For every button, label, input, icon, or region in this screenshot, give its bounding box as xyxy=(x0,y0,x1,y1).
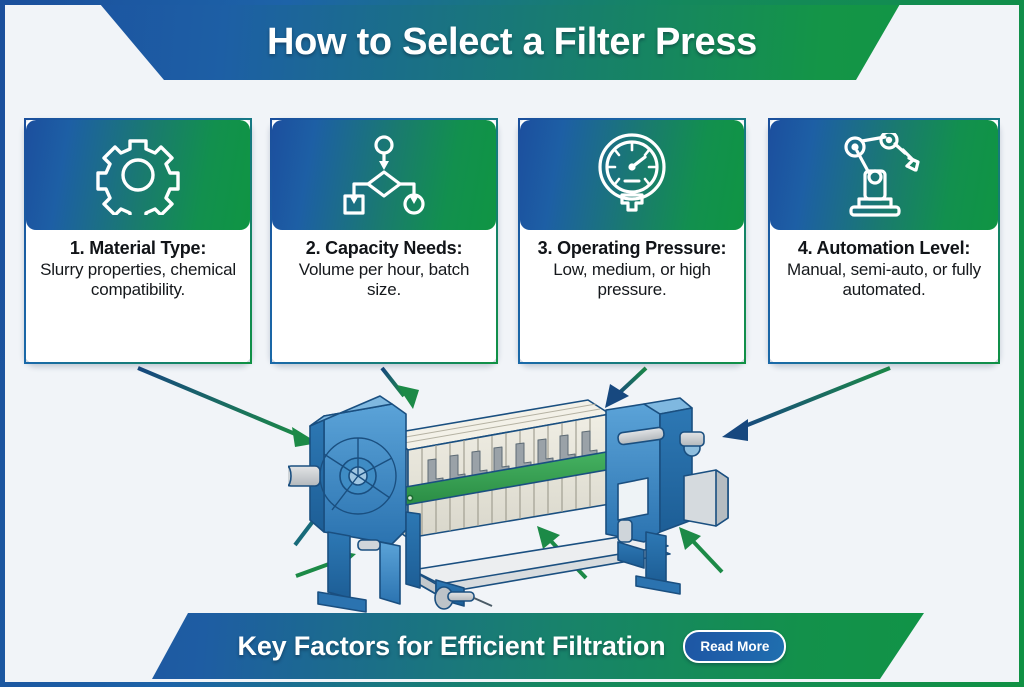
card-title: 1. Material Type: xyxy=(34,238,242,259)
card-body: 1. Material Type: Slurry properties, che… xyxy=(26,230,250,301)
footer-banner: Key Factors for Efficient Filtration Rea… xyxy=(0,613,1024,683)
machine-hydraulic-ram xyxy=(288,466,320,486)
card-body: 3. Operating Pressure: Low, medium, or h… xyxy=(520,230,744,301)
card-body: 4. Automation Level: Manual, semi-auto, … xyxy=(770,230,998,301)
card-operating-pressure[interactable]: 3. Operating Pressure: Low, medium, or h… xyxy=(518,118,746,364)
page-title: How to Select a Filter Press xyxy=(0,4,1024,80)
machine-head-block xyxy=(288,396,406,544)
pressure-gauge-icon xyxy=(592,131,672,219)
card-title: 3. Operating Pressure: xyxy=(528,238,736,259)
card-description: Low, medium, or high pressure. xyxy=(528,260,736,301)
read-more-button[interactable]: Read More xyxy=(683,630,786,663)
card-icon-panel xyxy=(26,120,250,230)
gear-icon xyxy=(95,135,181,215)
filter-press-machine xyxy=(288,392,740,620)
arrow-card4-to-machine xyxy=(722,368,890,441)
card-description: Manual, semi-auto, or fully automated. xyxy=(778,260,990,301)
machine-tail-frame xyxy=(606,398,692,594)
card-description: Volume per hour, batch size. xyxy=(280,260,488,301)
footer-content: Key Factors for Efficient Filtration Rea… xyxy=(0,613,1024,679)
flowchart-icon xyxy=(338,134,430,216)
header-banner: How to Select a Filter Press xyxy=(0,4,1024,84)
footer-title: Key Factors for Efficient Filtration xyxy=(238,631,666,662)
card-body: 2. Capacity Needs: Volume per hour, batc… xyxy=(272,230,496,301)
card-icon-panel xyxy=(770,120,998,230)
card-icon-panel xyxy=(272,120,496,230)
card-title: 4. Automation Level: xyxy=(778,238,990,259)
card-material-type[interactable]: 1. Material Type: Slurry properties, che… xyxy=(24,118,252,364)
card-capacity-needs[interactable]: 2. Capacity Needs: Volume per hour, batc… xyxy=(270,118,498,364)
card-description: Slurry properties, chemical compatibilit… xyxy=(34,260,242,301)
machine-control-box xyxy=(680,432,728,526)
card-title: 2. Capacity Needs: xyxy=(280,238,488,259)
card-icon-panel xyxy=(520,120,744,230)
robot-arm-icon xyxy=(837,133,931,217)
card-automation-level[interactable]: 4. Automation Level: Manual, semi-auto, … xyxy=(768,118,1000,364)
